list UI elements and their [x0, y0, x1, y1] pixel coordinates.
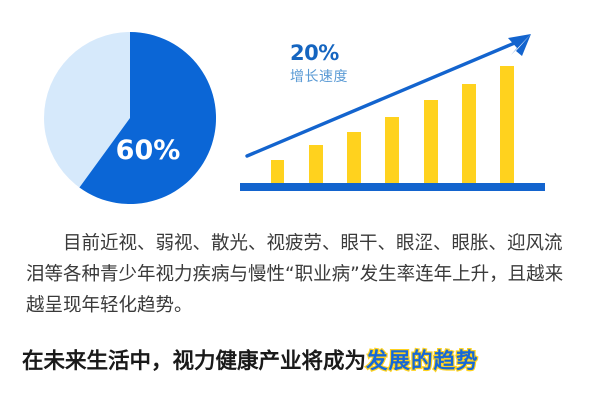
- pie-chart-svg: 60%: [40, 28, 220, 208]
- chart-baseline: [240, 183, 545, 191]
- bar-chart-svg: 20% 增长速度: [235, 22, 565, 202]
- pie-chart: 60%: [40, 28, 220, 208]
- bar-1: [271, 160, 284, 183]
- bar-7: [500, 66, 514, 183]
- bar-3: [347, 132, 361, 183]
- bar-5: [424, 100, 438, 183]
- headline: 在未来生活中，视力健康产业将成为发展的趋势: [22, 344, 590, 375]
- bar-6: [462, 84, 476, 183]
- body-copy: 目前近视、弱视、散光、视疲劳、眼干、眼涩、眼胀、迎风流泪等各种青少年视力疾病与慢…: [26, 228, 578, 321]
- graphics-band: 60% 20% 增长速度: [0, 0, 600, 215]
- bar-4: [385, 117, 399, 183]
- infographic-root: 60% 20% 增长速度: [0, 0, 600, 400]
- headline-accent: 发展的趋势: [366, 349, 479, 374]
- body-paragraph: 目前近视、弱视、散光、视疲劳、眼干、眼涩、眼胀、迎风流泪等各种青少年视力疾病与慢…: [26, 228, 578, 321]
- headline-lead: 在未来生活中，视力健康产业将成为: [22, 349, 366, 374]
- growth-rate-caption: 增长速度: [290, 69, 348, 85]
- growth-rate-value: 20%: [290, 41, 339, 65]
- pie-value-label: 60%: [116, 135, 181, 166]
- bar-2: [309, 145, 323, 183]
- bar-chart: 20% 增长速度: [235, 22, 565, 202]
